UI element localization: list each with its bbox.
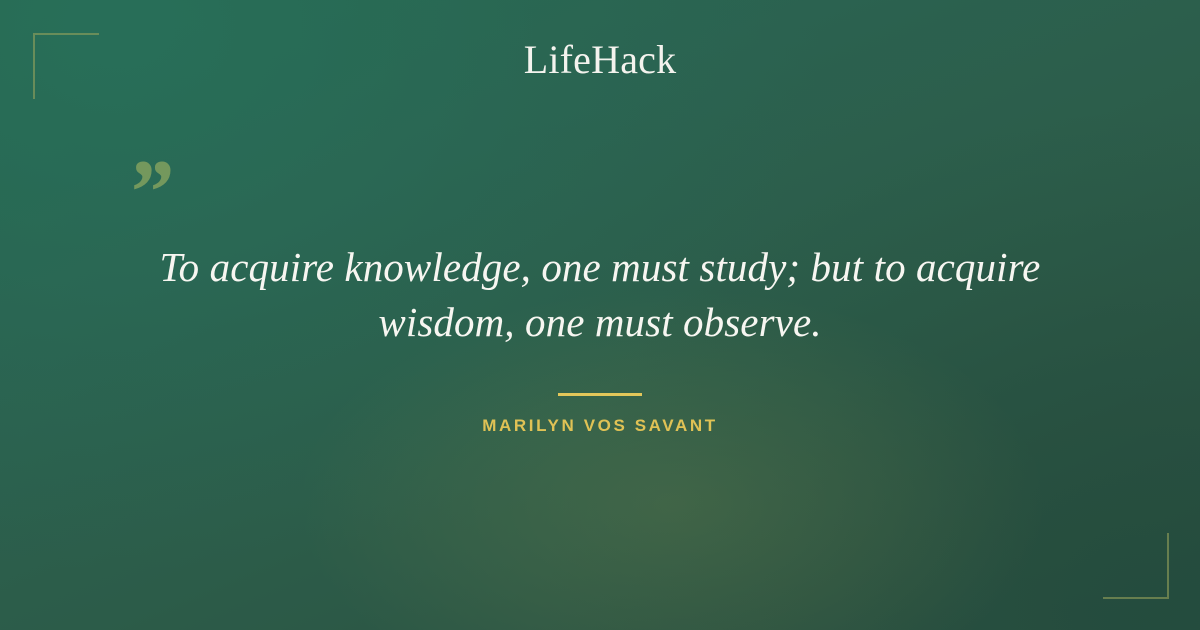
quote-card: LifeHack ” To acquire knowledge, one mus… xyxy=(0,0,1200,630)
quote-block: To acquire knowledge, one must study; bu… xyxy=(130,240,1070,350)
divider-wrapper xyxy=(0,383,1200,401)
brand-logo: LifeHack xyxy=(0,36,1200,84)
quote-attribution: Marilyn Vos Savant xyxy=(0,414,1200,438)
quote-text: To acquire knowledge, one must study; bu… xyxy=(130,240,1070,350)
corner-bracket-bottom-right-icon xyxy=(1103,533,1169,599)
gold-divider xyxy=(558,393,642,396)
quotation-mark-icon: ” xyxy=(126,146,172,238)
